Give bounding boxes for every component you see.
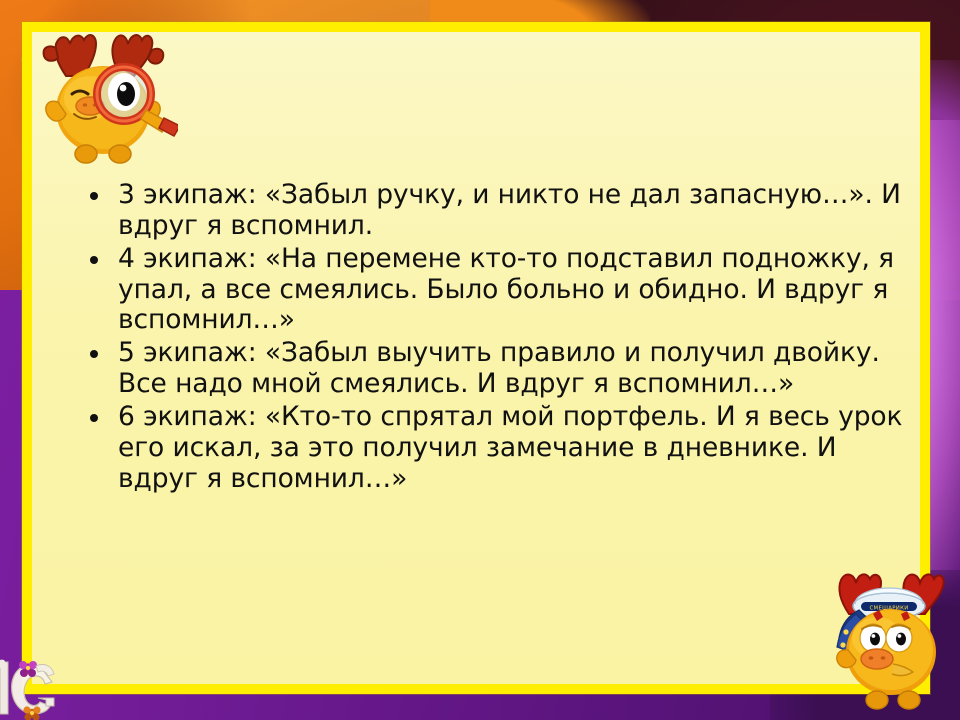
bullet-point-icon — [90, 350, 98, 358]
decorative-monogram-watermark — [0, 644, 64, 720]
list-item: 6 экипаж: «Кто-то спрятал мой портфель. … — [60, 402, 910, 495]
losyash-sailor-hat-character: СМЕШАРИКИ — [815, 552, 960, 712]
bullet-point-icon — [90, 192, 98, 200]
bullet-text: 6 экипаж: «Кто-то спрятал мой портфель. … — [118, 401, 902, 494]
bullet-list: 3 экипаж: «Забыл ручку, и никто не дал з… — [60, 180, 910, 497]
bullet-point-icon — [90, 414, 98, 422]
presentation-slide: 3 экипаж: «Забыл ручку, и никто не дал з… — [0, 0, 960, 720]
bullet-text: 4 экипаж: «На перемене кто-то подставил … — [118, 243, 894, 336]
bullet-text: 5 экипаж: «Забыл выучить правило и получ… — [118, 337, 880, 399]
losyash-with-magnifier-character — [28, 18, 178, 168]
list-item: 5 экипаж: «Забыл выучить правило и получ… — [60, 338, 910, 400]
list-item: 4 экипаж: «На перемене кто-то подставил … — [60, 244, 910, 337]
bullet-point-icon — [90, 256, 98, 264]
bullet-text: 3 экипаж: «Забыл ручку, и никто не дал з… — [118, 179, 901, 241]
list-item: 3 экипаж: «Забыл ручку, и никто не дал з… — [60, 180, 910, 242]
